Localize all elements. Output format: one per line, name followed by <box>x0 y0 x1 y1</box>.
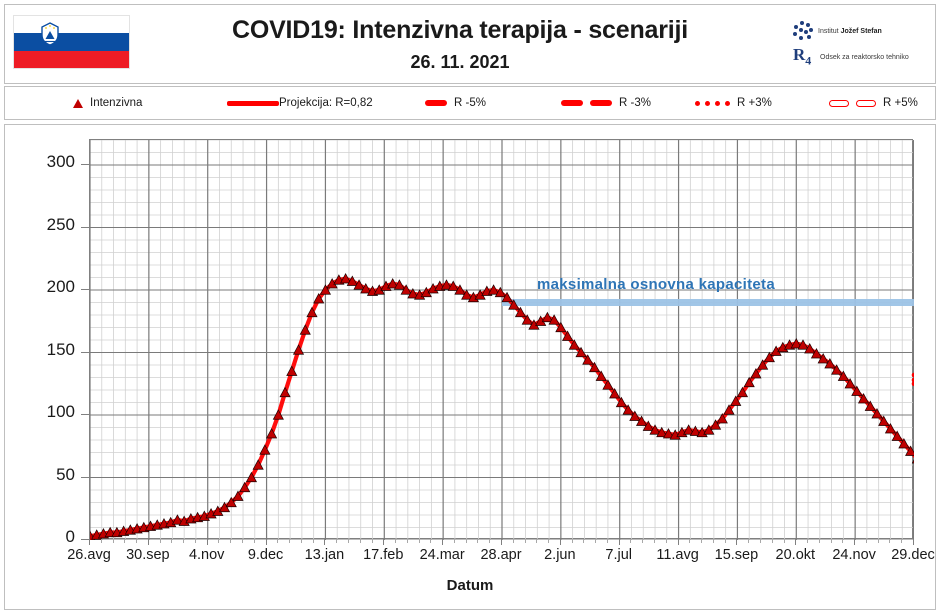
x-axis-minor-tick <box>689 539 690 543</box>
x-axis-minor-tick <box>230 539 231 543</box>
triangle-marker-icon <box>73 99 83 108</box>
x-axis-minor-tick <box>348 539 349 543</box>
ijs-name: Jožef Stefan <box>841 28 882 35</box>
x-axis-minor-tick <box>819 539 820 543</box>
x-axis-minor-tick <box>866 539 867 543</box>
x-axis-tick <box>501 539 502 545</box>
r4-logo-row: R4 Odsek za reaktorsko tehniko <box>793 47 909 68</box>
y-axis-tick <box>81 227 89 228</box>
x-axis-minor-tick <box>360 539 361 543</box>
legend-label: R +3% <box>737 97 772 109</box>
x-axis-minor-tick <box>842 539 843 543</box>
y-axis-tick <box>81 352 89 353</box>
x-axis-tick-label: 17.feb <box>363 547 403 563</box>
r4-mark-icon: R4 <box>793 47 815 68</box>
legend-panel: Intenzivna Projekcija: R=0,82 R -5% R -3… <box>4 86 936 120</box>
title-block: COVID19: Intenzivna terapija - scenariji… <box>145 13 775 75</box>
y-axis-tick-label: 100 <box>19 405 75 419</box>
x-axis-minor-tick <box>666 539 667 543</box>
x-axis-tick <box>148 539 149 545</box>
x-axis-tick <box>678 539 679 545</box>
legend-item-r-plus-5[interactable]: R +5% <box>829 97 918 109</box>
x-axis-tick-label: 11.avg <box>656 547 698 563</box>
x-axis-minor-tick <box>760 539 761 543</box>
dotted-line-marker-icon <box>695 101 730 106</box>
capacity-annotation-label: maksimalna osnovna kapaciteta <box>537 276 775 293</box>
legend-items: Intenzivna Projekcija: R=0,82 R -5% R -3… <box>5 87 935 119</box>
legend-item-projekcija[interactable]: Projekcija: R=0,82 <box>227 97 373 109</box>
x-axis-tick-label: 4.nov <box>189 547 224 563</box>
x-axis-minor-tick <box>136 539 137 543</box>
x-axis-minor-tick <box>595 539 596 543</box>
x-axis-minor-tick <box>254 539 255 543</box>
x-axis-minor-tick <box>336 539 337 543</box>
x-axis-tick <box>266 539 267 545</box>
y-axis-tick <box>81 164 89 165</box>
x-axis-minor-tick <box>630 539 631 543</box>
x-axis-minor-tick <box>548 539 549 543</box>
hollow-dash-marker-icon <box>829 100 876 107</box>
x-axis-title: Datum <box>5 577 935 594</box>
page-title: COVID19: Intenzivna terapija - scenariji <box>145 13 775 47</box>
x-axis-tick-label: 2.jun <box>544 547 575 563</box>
legend-item-r-minus-5[interactable]: R -5% <box>425 97 486 109</box>
x-axis-tick-label: 24.nov <box>832 547 876 563</box>
x-axis-minor-tick <box>195 539 196 543</box>
legend-label: Intenzivna <box>90 97 142 109</box>
x-axis-minor-tick <box>654 539 655 543</box>
x-axis-minor-tick <box>572 539 573 543</box>
x-axis-minor-tick <box>701 539 702 543</box>
x-axis-minor-tick <box>419 539 420 543</box>
x-axis-minor-tick <box>454 539 455 543</box>
x-axis-minor-tick <box>171 539 172 543</box>
x-axis-minor-tick <box>218 539 219 543</box>
x-axis-minor-tick <box>101 539 102 543</box>
legend-label: R +5% <box>883 97 918 109</box>
marker-layer <box>90 140 914 540</box>
x-axis-minor-tick <box>878 539 879 543</box>
legend-item-r-minus-3[interactable]: R -3% <box>561 97 651 109</box>
y-axis-tick <box>81 289 89 290</box>
x-axis-tick-label: 29.dec <box>891 547 935 563</box>
solid-line-marker-icon <box>227 101 279 106</box>
legend-label: R -5% <box>454 97 486 109</box>
x-axis-minor-tick <box>277 539 278 543</box>
x-axis-minor-tick <box>831 539 832 543</box>
x-axis-minor-tick <box>583 539 584 543</box>
x-axis-minor-tick <box>407 539 408 543</box>
x-axis-minor-tick <box>160 539 161 543</box>
x-axis-tick-label: 13.jan <box>305 547 345 563</box>
x-axis-minor-tick <box>713 539 714 543</box>
chart-panel: 050100150200250300 26.avg30.sep4.nov9.de… <box>4 124 936 610</box>
x-axis-minor-tick <box>477 539 478 543</box>
y-axis-tick-label: 250 <box>19 218 75 232</box>
x-axis-minor-tick <box>113 539 114 543</box>
chart-screenshot: COVID19: Intenzivna terapija - scenariji… <box>0 0 940 614</box>
x-axis-minor-tick <box>807 539 808 543</box>
y-axis-tick <box>81 477 89 478</box>
x-axis-tick <box>324 539 325 545</box>
y-axis-tick <box>81 539 89 540</box>
x-axis-minor-tick <box>784 539 785 543</box>
x-axis-tick <box>736 539 737 545</box>
short-dash-marker-icon <box>425 100 447 106</box>
x-axis-minor-tick <box>525 539 526 543</box>
legend-item-r-plus-3[interactable]: R +3% <box>695 97 772 109</box>
x-axis-minor-tick <box>430 539 431 543</box>
y-axis-tick-label: 300 <box>19 155 75 169</box>
institute-logo: Institut Jožef Stefan R4 Odsek za reakto… <box>793 19 933 77</box>
legend-label: Projekcija: R=0,82 <box>279 97 373 109</box>
x-axis-tick-label: 28.apr <box>480 547 521 563</box>
x-axis-minor-tick <box>289 539 290 543</box>
department-label: Odsek za reaktorsko tehniko <box>820 54 909 61</box>
ijs-prefix: Institut <box>818 28 841 35</box>
x-axis-tick <box>560 539 561 545</box>
r4-letter: R <box>793 45 805 64</box>
x-axis-minor-tick <box>607 539 608 543</box>
ijs-logo-row: Institut Jožef Stefan <box>793 21 882 41</box>
x-axis-tick <box>619 539 620 545</box>
ijs-logo-label: Institut Jožef Stefan <box>818 28 882 35</box>
x-axis-minor-tick <box>772 539 773 543</box>
x-axis-tick <box>854 539 855 545</box>
x-axis-minor-tick <box>242 539 243 543</box>
legend-label: R -3% <box>619 97 651 109</box>
x-axis-minor-tick <box>536 539 537 543</box>
x-axis-minor-tick <box>372 539 373 543</box>
x-axis-minor-tick <box>466 539 467 543</box>
x-axis-minor-tick <box>513 539 514 543</box>
y-axis-tick-label: 0 <box>19 530 75 544</box>
slovenia-flag-icon <box>13 15 130 69</box>
coat-of-arms-icon <box>40 22 60 46</box>
flag-stripe-white <box>14 16 129 33</box>
x-axis-tick <box>383 539 384 545</box>
y-axis-tick-label: 150 <box>19 343 75 357</box>
plot-area <box>89 139 913 539</box>
x-axis-tick-label: 9.dec <box>248 547 283 563</box>
x-axis-minor-tick <box>489 539 490 543</box>
x-axis-tick <box>913 539 914 545</box>
x-axis-minor-tick <box>124 539 125 543</box>
x-axis-tick-label: 24.mar <box>420 547 465 563</box>
x-axis-minor-tick <box>748 539 749 543</box>
x-axis-tick-label: 7.jul <box>605 547 632 563</box>
x-axis-minor-tick <box>183 539 184 543</box>
x-axis-minor-tick <box>313 539 314 543</box>
y-axis-tick <box>81 414 89 415</box>
x-axis-tick-label: 15.sep <box>715 547 759 563</box>
x-axis-minor-tick <box>901 539 902 543</box>
x-axis-tick <box>795 539 796 545</box>
x-axis-tick <box>89 539 90 545</box>
flag-stripe-blue <box>14 33 129 50</box>
x-axis-minor-tick <box>395 539 396 543</box>
r4-subscript: 4 <box>805 53 811 67</box>
x-axis-tick <box>207 539 208 545</box>
y-axis-tick-label: 50 <box>19 468 75 482</box>
header-panel: COVID19: Intenzivna terapija - scenariji… <box>4 4 936 84</box>
report-date: 26. 11. 2021 <box>145 49 775 75</box>
flag-stripe-red <box>14 51 129 68</box>
x-axis-minor-tick <box>642 539 643 543</box>
x-axis-tick-label: 20.okt <box>776 547 816 563</box>
x-axis-minor-tick <box>725 539 726 543</box>
x-axis-minor-tick <box>301 539 302 543</box>
x-axis-minor-tick <box>889 539 890 543</box>
x-axis-tick <box>442 539 443 545</box>
x-axis-tick-label: 30.sep <box>126 547 170 563</box>
x-axis-tick-label: 26.avg <box>67 547 111 563</box>
long-dash-marker-icon <box>561 100 612 106</box>
y-axis-tick-label: 200 <box>19 280 75 294</box>
ijs-dots-icon <box>793 21 813 41</box>
legend-item-intenzivna[interactable]: Intenzivna <box>73 97 142 109</box>
